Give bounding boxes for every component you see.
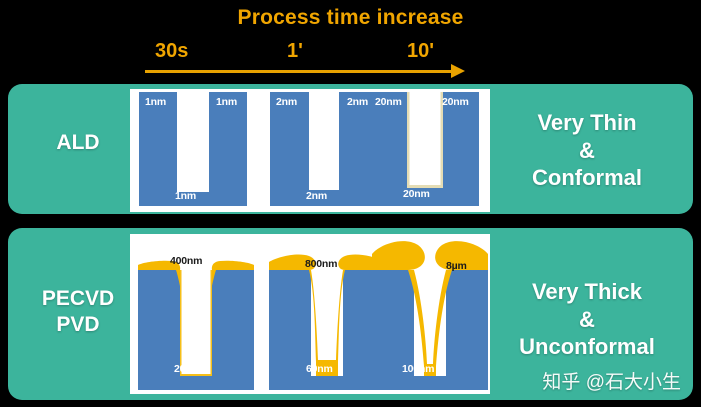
pecvd-outcome-label: Very Thick & Unconformal <box>489 278 685 361</box>
axis-tick-1min: 1' <box>287 40 303 63</box>
pecvd-1min-top-dim: 800nm <box>305 258 337 270</box>
ald-30s-top-right-dim: 1nm <box>216 96 237 108</box>
arrow-head-icon <box>451 64 465 78</box>
pecvd-process-label: PECVD PVD <box>22 286 134 339</box>
ald-10min-top-left-dim: 20nm <box>375 96 402 108</box>
axis-line <box>145 70 455 73</box>
ald-1min-top-right-dim: 2nm <box>347 96 368 108</box>
ald-10min-top-right-dim: 20nm <box>442 96 469 108</box>
ald-process-label: ALD <box>22 130 134 156</box>
axis-tick-10min: 10' <box>407 40 434 63</box>
axis-tick-30s: 30s <box>155 40 188 63</box>
ald-outcome-label: Very Thin & Conformal <box>489 109 685 192</box>
pecvd-outcome-line-2: & <box>489 306 685 334</box>
pecvd-1min-bottom-dim: 60nm <box>306 363 333 375</box>
ald-outcome-line-3: Conformal <box>489 164 685 192</box>
pecvd-outcome-line-1: Very Thick <box>489 278 685 306</box>
pecvd-process-line-2: PVD <box>22 312 134 338</box>
trench-ald-1min <box>270 92 378 206</box>
watermark: 知乎 @石大小生 <box>542 367 681 394</box>
ald-30s-bottom-dim: 1nm <box>175 190 196 202</box>
ald-outcome-line-2: & <box>489 137 685 165</box>
pecvd-10min-bottom-dim: 100nm <box>402 363 434 375</box>
page-title: Process time increase <box>0 6 701 30</box>
ald-outcome-line-1: Very Thin <box>489 109 685 137</box>
ald-10min-bottom-dim: 20nm <box>403 188 430 200</box>
process-time-axis: 30s 1' 10' <box>145 40 470 80</box>
pecvd-30s-top-dim: 400nm <box>170 255 202 267</box>
slide-canvas: Process time increase 30s 1' 10' ALD Ver… <box>0 0 701 407</box>
pecvd-outcome-line-3: Unconformal <box>489 333 685 361</box>
trench-ald-30s <box>139 92 247 206</box>
ald-1min-top-left-dim: 2nm <box>276 96 297 108</box>
pecvd-process-line-1: PECVD <box>22 286 134 312</box>
ald-1min-bottom-dim: 2nm <box>306 190 327 202</box>
ald-30s-top-left-dim: 1nm <box>145 96 166 108</box>
pecvd-diagram-board: 400nm 20nm 800nm 60nm <box>130 234 490 394</box>
pecvd-10min-top-dim: 8µm <box>446 260 467 272</box>
pecvd-30s-bottom-dim: 20nm <box>174 363 201 375</box>
ald-diagram-board: 1nm 1nm 1nm 2nm 2nm 2nm 20nm 20nm 20nm <box>130 89 490 212</box>
